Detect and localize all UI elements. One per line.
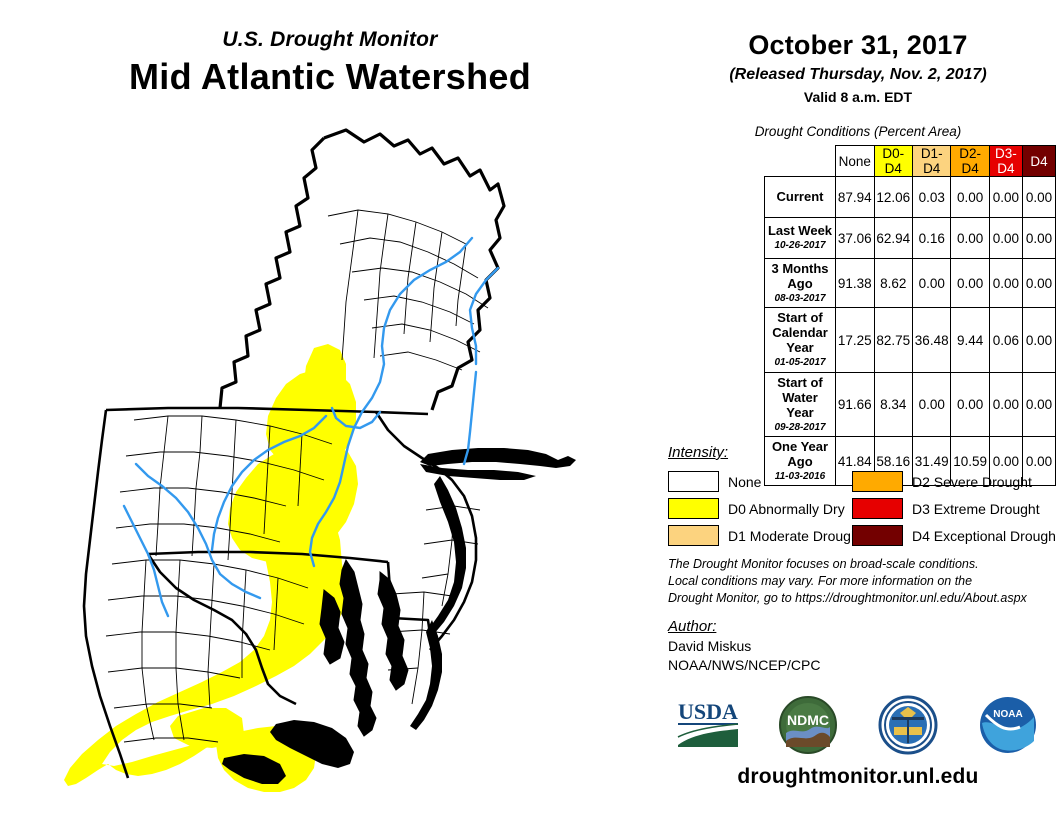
legend-item-d1-moderate-drought: D1 Moderate Drought: [668, 525, 852, 546]
cell-d3-d4: 0.00: [989, 218, 1022, 259]
table-caption: Drought Conditions (Percent Area): [660, 124, 1056, 139]
row-label: Last Week10-26-2017: [765, 218, 836, 259]
legend-swatch-d1-moderate-drought: [668, 525, 719, 546]
cell-none: 87.94: [836, 177, 874, 218]
valid-time: Valid 8 a.m. EDT: [660, 89, 1056, 105]
legend-swatch-d0-abnormally-dry: [668, 498, 719, 519]
commerce-seal-logo[interactable]: [872, 693, 944, 757]
legend-label-d0-abnormally-dry: D0 Abnormally Dry: [728, 501, 845, 517]
ndmc-logo-text: NDMC: [787, 712, 829, 728]
page-title: Mid Atlantic Watershed: [0, 56, 660, 98]
legend-swatch-d3-extreme-drought: [852, 498, 903, 519]
table-header-row: NoneD0-D4D1-D4D2-D4D3-D4D4: [765, 146, 1056, 177]
legend-swatch-d2-severe-drought: [852, 471, 903, 492]
cell-d1-d4: 0.03: [912, 177, 950, 218]
cell-d4: 0.00: [1022, 259, 1055, 308]
table-row: 3 Months Ago08-03-201791.388.620.000.000…: [765, 259, 1056, 308]
row-label: 3 Months Ago08-03-2017: [765, 259, 836, 308]
legend-label-none: None: [728, 474, 761, 490]
legend-swatch-d4-exceptional-drought: [852, 525, 903, 546]
cell-d0-d4: 8.62: [874, 259, 912, 308]
row-label: Start ofCalendar Year01-05-2017: [765, 308, 836, 372]
intensity-legend: Intensity: NoneD2 Severe DroughtD0 Abnor…: [668, 444, 1056, 549]
cell-d1-d4: 36.48: [912, 308, 950, 372]
table-col-header-d4: D4: [1022, 146, 1055, 177]
cell-d4: 0.00: [1022, 177, 1055, 218]
cell-d2-d4: 0.00: [951, 372, 989, 436]
cell-d0-d4: 12.06: [874, 177, 912, 218]
info-panel: October 31, 2017 (Released Thursday, Nov…: [660, 0, 1056, 816]
legend-item-d4-exceptional-drought: D4 Exceptional Drought: [852, 525, 1056, 546]
cell-d1-d4: 0.00: [912, 372, 950, 436]
cell-d2-d4: 0.00: [951, 218, 989, 259]
map-title-block: U.S. Drought Monitor Mid Atlantic Waters…: [0, 28, 660, 98]
row-label-date: 01-05-2017: [767, 357, 833, 369]
usda-logo-text: USDA: [678, 699, 738, 724]
legend-label-d1-moderate-drought: D1 Moderate Drought: [728, 528, 863, 544]
note-line-1: The Drought Monitor focuses on broad-sca…: [668, 556, 1048, 573]
table-body: Current87.9412.060.030.000.000.00Last We…: [765, 177, 1056, 486]
cell-none: 37.06: [836, 218, 874, 259]
report-date: October 31, 2017: [660, 30, 1056, 61]
author-label: Author:: [668, 618, 1048, 635]
release-date: (Released Thursday, Nov. 2, 2017): [660, 66, 1056, 84]
cell-d1-d4: 0.16: [912, 218, 950, 259]
legend-item-d2-severe-drought: D2 Severe Drought: [852, 471, 1056, 492]
cell-d3-d4: 0.00: [989, 177, 1022, 218]
note-line-2: Local conditions may vary. For more info…: [668, 573, 1048, 590]
legend-label-d2-severe-drought: D2 Severe Drought: [912, 474, 1032, 490]
table-row: Start ofCalendar Year01-05-201717.2582.7…: [765, 308, 1056, 372]
cell-d3-d4: 0.06: [989, 308, 1022, 372]
table-col-header-d2-d4: D2-D4: [951, 146, 989, 177]
disclaimer-notes: The Drought Monitor focuses on broad-sca…: [668, 556, 1048, 607]
table-col-header-none: None: [836, 146, 874, 177]
cell-d0-d4: 62.94: [874, 218, 912, 259]
cell-d1-d4: 0.00: [912, 259, 950, 308]
cell-d2-d4: 0.00: [951, 259, 989, 308]
cell-d0-d4: 8.34: [874, 372, 912, 436]
legend-item-d0-abnormally-dry: D0 Abnormally Dry: [668, 498, 852, 519]
watershed-map-svg[interactable]: [28, 120, 648, 810]
cell-d3-d4: 0.00: [989, 372, 1022, 436]
table-corner-cell: [765, 146, 836, 177]
agency-logos: USDA NDMC: [660, 690, 1056, 760]
cell-d4: 0.00: [1022, 308, 1055, 372]
author-affiliation: NOAA/NWS/NCEP/CPC: [668, 657, 1048, 673]
date-block: October 31, 2017 (Released Thursday, Nov…: [660, 30, 1056, 105]
note-line-3: Drought Monitor, go to https://droughtmo…: [668, 590, 1048, 607]
table-row: Last Week10-26-201737.0662.940.160.000.0…: [765, 218, 1056, 259]
drought-monitor-page: U.S. Drought Monitor Mid Atlantic Waters…: [0, 0, 1056, 816]
table-col-header-d1-d4: D1-D4: [912, 146, 950, 177]
legend-label-d3-extreme-drought: D3 Extreme Drought: [912, 501, 1040, 517]
map-subtitle: U.S. Drought Monitor: [0, 28, 660, 52]
site-url[interactable]: droughtmonitor.unl.edu: [660, 765, 1056, 789]
map-canvas[interactable]: [28, 120, 648, 810]
row-label-date: 09-28-2017: [767, 422, 833, 434]
author-name: David Miskus: [668, 638, 1048, 654]
drought-conditions-table: NoneD0-D4D1-D4D2-D4D3-D4D4 Current87.941…: [764, 145, 1056, 486]
cell-none: 91.38: [836, 259, 874, 308]
cell-none: 91.66: [836, 372, 874, 436]
table-row: Current87.9412.060.030.000.000.00: [765, 177, 1056, 218]
author-block: Author: David Miskus NOAA/NWS/NCEP/CPC: [668, 618, 1048, 673]
cell-d2-d4: 0.00: [951, 177, 989, 218]
cell-d4: 0.00: [1022, 372, 1055, 436]
noaa-logo[interactable]: NOAA: [972, 693, 1044, 757]
ndmc-logo[interactable]: NDMC: [772, 693, 844, 757]
legend-item-d3-extreme-drought: D3 Extreme Drought: [852, 498, 1056, 519]
row-label: Start ofWater Year09-28-2017: [765, 372, 836, 436]
row-label-date: 10-26-2017: [767, 240, 833, 252]
legend-item-none: None: [668, 471, 852, 492]
row-label: Current: [765, 177, 836, 218]
table-col-header-d3-d4: D3-D4: [989, 146, 1022, 177]
cell-d4: 0.00: [1022, 218, 1055, 259]
map-panel: U.S. Drought Monitor Mid Atlantic Waters…: [0, 0, 660, 816]
usda-logo[interactable]: USDA: [672, 693, 744, 757]
legend-grid: NoneD2 Severe DroughtD0 Abnormally DryD3…: [668, 468, 1056, 549]
table-col-header-d0-d4: D0-D4: [874, 146, 912, 177]
legend-label-d4-exceptional-drought: D4 Exceptional Drought: [912, 528, 1056, 544]
cell-none: 17.25: [836, 308, 874, 372]
noaa-logo-text: NOAA: [993, 709, 1022, 720]
cell-d2-d4: 9.44: [951, 308, 989, 372]
cell-d3-d4: 0.00: [989, 259, 1022, 308]
row-label-date: 08-03-2017: [767, 293, 833, 305]
legend-swatch-none: [668, 471, 719, 492]
table-row: Start ofWater Year09-28-201791.668.340.0…: [765, 372, 1056, 436]
cell-d0-d4: 82.75: [874, 308, 912, 372]
intensity-legend-title: Intensity:: [668, 444, 1056, 461]
